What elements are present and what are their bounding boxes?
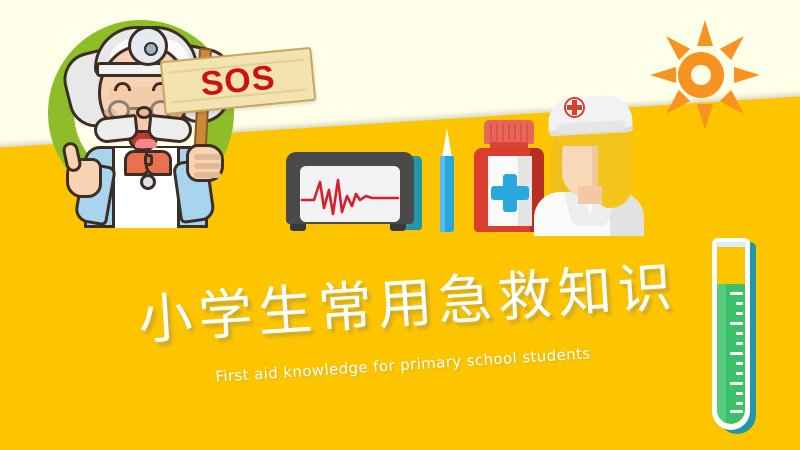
red-cross-icon-bar: [567, 105, 582, 110]
medicine-bottle-cap: [484, 120, 534, 144]
doctor-mustache-left: [93, 114, 139, 144]
test-tube-icon: [712, 238, 758, 434]
test-tube-rim: [716, 242, 746, 247]
sun-ray-5: [697, 104, 713, 130]
doctor-right-hand: [186, 144, 224, 182]
test-tube-tick: [736, 312, 743, 315]
test-tube-tick: [736, 392, 743, 395]
sun-ray-4: [720, 90, 750, 120]
heartbeat-waveform-icon: [300, 166, 400, 222]
test-tube-tick: [736, 342, 743, 345]
bow-tie-knot: [144, 154, 153, 166]
ecg-monitor-foot-left: [290, 224, 306, 231]
test-tube-tick: [730, 322, 743, 325]
sun-ray-1: [697, 20, 713, 46]
test-tube-tick: [730, 352, 743, 355]
sos-sign-text: SOS: [199, 58, 277, 104]
test-tube-tick: [736, 372, 743, 375]
stethoscope-icon: [140, 174, 156, 190]
test-tube-liquid-highlight: [717, 284, 726, 424]
sos-sign: SOS: [162, 36, 322, 166]
test-tube-tick: [730, 292, 743, 295]
thermometer-icon: [438, 128, 456, 232]
slide-canvas: SOS: [0, 0, 800, 450]
nurse-neck: [578, 186, 602, 204]
sun-ray-6: [660, 90, 690, 120]
test-tube-tick: [736, 402, 743, 405]
thermometer-body: [440, 156, 454, 232]
test-tube-tick: [736, 302, 743, 305]
sun-ray-7: [650, 67, 676, 83]
nurse-cap-fold: [556, 120, 624, 134]
sun-ray-8: [660, 30, 690, 60]
nurse-character: [528, 88, 648, 234]
sun-ray-2: [720, 30, 750, 60]
sun-core: [678, 52, 724, 98]
test-tube-interior: [717, 244, 745, 424]
nurse-cap: [547, 94, 633, 136]
test-tube-tick: [736, 362, 743, 365]
test-tube-tick: [730, 382, 743, 385]
sos-sign-board: SOS: [160, 47, 316, 115]
test-tube-tick: [736, 332, 743, 335]
test-tube-tick: [730, 410, 743, 413]
ecg-monitor-screen: [300, 166, 400, 222]
nurse-hair-side: [598, 122, 632, 208]
medical-cross-icon-bar: [491, 186, 529, 200]
ecg-monitor-foot-right: [390, 224, 406, 231]
sun-icon: [648, 22, 754, 128]
doctor-nose: [136, 106, 152, 119]
sun-ray-3: [734, 67, 760, 83]
